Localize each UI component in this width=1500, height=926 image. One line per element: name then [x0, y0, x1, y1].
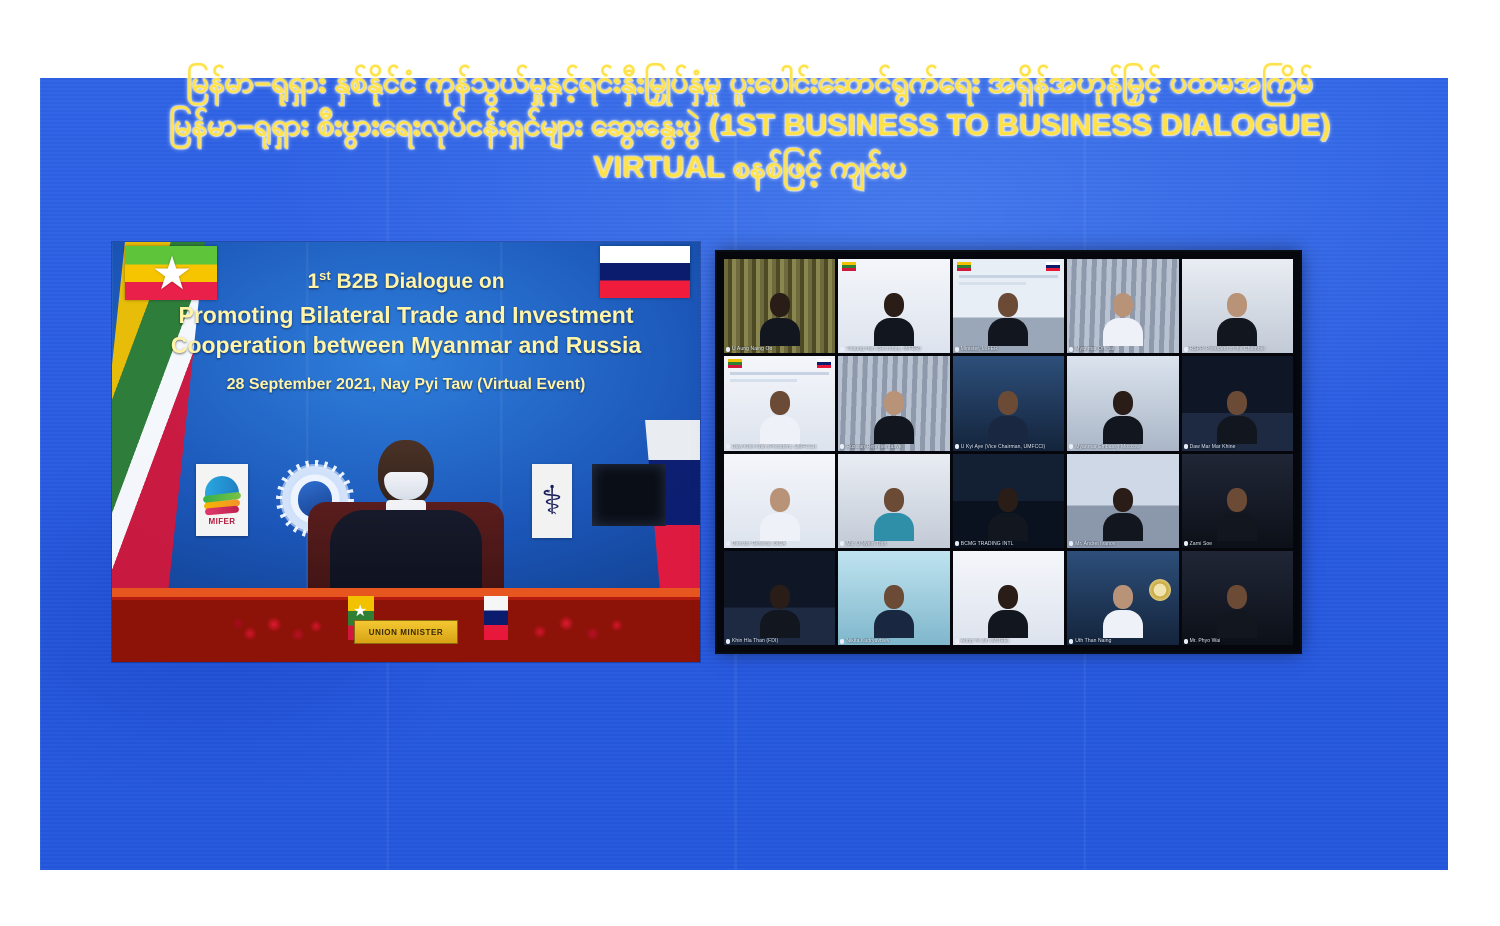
participant-name-text: Russian Representative: [846, 444, 901, 450]
banner-title-rest: B2B Dialogue on: [331, 270, 505, 293]
head: [770, 391, 790, 415]
participant-figure: [760, 488, 800, 541]
participant-name-label: Mr. Phyo Wai: [1184, 638, 1291, 644]
torso: [1103, 610, 1143, 638]
myanmar-flag-icon: [842, 262, 856, 271]
participant-name-text: Minister, MIFER: [961, 346, 998, 352]
participant-figure: [988, 585, 1028, 638]
participant-figure: [760, 293, 800, 346]
mifer-wordmark: MIFER: [209, 517, 236, 526]
head: [1227, 488, 1247, 512]
microphone-icon: [1184, 541, 1188, 546]
wall-dark-panel: [592, 464, 666, 526]
head: [1227, 391, 1247, 415]
participant-figure: [1217, 391, 1257, 444]
participant-figure: [874, 391, 914, 444]
participant-tile[interactable]: Khin Hla Than (FDI): [724, 551, 835, 645]
title-line-3: VIRTUAL စနစ်ဖြင့် ကျင်းပ: [0, 147, 1500, 190]
microphone-icon: [726, 541, 730, 546]
participant-tile[interactable]: Aung Ye Zin (MOEE): [953, 551, 1064, 645]
video-conference-screen: U Aung Naing OoThaung Han (Secretary, MI…: [717, 252, 1300, 652]
microphone-icon: [726, 347, 730, 352]
participant-figure: [988, 488, 1028, 541]
microphone-icon: [1184, 639, 1188, 644]
title-line-2: မြန်မာ–ရုရှား စီးပွားရေးလုပ်ငန်းရှင်များ…: [0, 105, 1500, 148]
head: [770, 293, 790, 317]
participant-name-text: U Aung Naing Oo: [732, 346, 772, 352]
participant-figure: [1103, 293, 1143, 346]
mifer-mark-icon: [203, 474, 241, 514]
microphone-icon: [955, 541, 959, 546]
microphone-icon: [955, 444, 959, 449]
torso: [1103, 416, 1143, 444]
participant-name-label: Khin Hla Than (FDI): [726, 638, 833, 644]
participant-name-text: U Kyi Aye (Vice Chairman, UMFCCI): [961, 444, 1046, 450]
head: [998, 585, 1018, 609]
participant-tile[interactable]: Mr. Andrei Ivanov: [1067, 454, 1178, 548]
banner-line-3: Cooperation between Myanmar and Russia: [112, 331, 700, 361]
participant-name-label: Ms. U Nyein Thiri: [840, 541, 947, 547]
nameplate-label: UNION MINISTER: [369, 628, 444, 637]
participant-name-text: Nikita Kudryavtsev: [846, 638, 889, 644]
nameplate: UNION MINISTER: [354, 620, 458, 644]
microphone-icon: [955, 347, 959, 352]
torso: [874, 513, 914, 541]
microphone-icon: [840, 444, 844, 449]
participant-name-text: Mr. Andrei Ivanov: [1075, 541, 1115, 547]
participant-name-label: Mr. Andrei Ivanov: [1069, 541, 1176, 547]
banner-title-prefix: 1: [307, 270, 319, 293]
participant-name-label: Director General, DICA: [726, 541, 833, 547]
participant-name-text: Myanmar Embassy Moscow: [1075, 444, 1140, 450]
podium-desk: UNION MINISTER: [112, 588, 700, 662]
microphone-icon: [840, 541, 844, 546]
participant-tile[interactable]: Daw Mar Mar Khine: [1182, 356, 1293, 450]
head: [998, 391, 1018, 415]
microphone-icon: [1184, 347, 1188, 352]
participant-name-text: Zarni Soe: [1190, 541, 1213, 547]
participant-name-text: Myanmar Official: [1075, 346, 1114, 352]
banner-line-2: Promoting Bilateral Trade and Investment: [112, 301, 700, 331]
participant-name-text: Aung Ye Zin (MOEE): [961, 638, 1009, 644]
participant-name-label: RSPP, President of the Chamber: [1184, 346, 1291, 352]
torso: [988, 610, 1028, 638]
table-flag-russia: [484, 596, 508, 640]
torso: [988, 416, 1028, 444]
participant-name-text: Daw Khin Khin (President, UMFCCI): [732, 444, 816, 450]
mifer-logo: MIFER: [196, 464, 248, 536]
torso: [1217, 513, 1257, 541]
torso: [1103, 318, 1143, 346]
participant-figure: [874, 585, 914, 638]
torso: [1217, 318, 1257, 346]
head: [884, 585, 904, 609]
participant-name-label: Myanmar Official: [1069, 346, 1176, 352]
participant-tile[interactable]: BCMG TRADING INTL: [953, 454, 1064, 548]
participant-figure: [760, 585, 800, 638]
caduceus-icon: ⚕: [532, 464, 572, 538]
institution-seal-icon: [1149, 579, 1171, 601]
microphone-icon: [726, 639, 730, 644]
participant-name-text: Khin Hla Than (FDI): [732, 638, 778, 644]
participant-figure: [1217, 585, 1257, 638]
participant-tile[interactable]: Nikita Kudryavtsev: [838, 551, 949, 645]
myanmar-flag-icon: [728, 359, 742, 368]
torso: [874, 610, 914, 638]
torso: [760, 513, 800, 541]
head: [1113, 391, 1133, 415]
torso: [1103, 513, 1143, 541]
head: [884, 293, 904, 317]
participant-tile[interactable]: Myanmar Official: [1067, 259, 1178, 353]
participant-name-label: Myanmar Embassy Moscow: [1069, 444, 1176, 450]
participant-name-label: Zarni Soe: [1184, 541, 1291, 547]
microphone-icon: [1069, 444, 1073, 449]
microphone-icon: [726, 444, 730, 449]
participant-name-text: RSPP, President of the Chamber: [1190, 346, 1266, 352]
participant-tile[interactable]: Daw Khin Khin (President, UMFCCI): [724, 356, 835, 450]
participant-figure: [988, 391, 1028, 444]
myanmar-flag-icon: [957, 262, 971, 271]
slide-line: [959, 275, 1058, 278]
participant-name-text: Director General, DICA: [732, 541, 786, 547]
participant-name-text: Mr. Phyo Wai: [1190, 638, 1221, 644]
participant-tile[interactable]: Minister, MIFER: [953, 259, 1064, 353]
participant-tile[interactable]: Ms. U Nyein Thiri: [838, 454, 949, 548]
participant-tile[interactable]: U Aung Naing Oo: [724, 259, 835, 353]
participant-name-label: Nikita Kudryavtsev: [840, 638, 947, 644]
participant-name-label: U Kyi Aye (Vice Chairman, UMFCCI): [955, 444, 1062, 450]
desk-edge: [112, 588, 700, 597]
participant-tile[interactable]: Mr. Phyo Wai: [1182, 551, 1293, 645]
slide-line: [959, 282, 1026, 285]
microphone-icon: [840, 347, 844, 352]
torso: [874, 318, 914, 346]
head: [998, 488, 1018, 512]
participant-name-label: Minister, MIFER: [955, 346, 1062, 352]
head: [1227, 585, 1247, 609]
participant-tile[interactable]: Zarni Soe: [1182, 454, 1293, 548]
microphone-icon: [1069, 639, 1073, 644]
participant-figure: [1103, 488, 1143, 541]
participant-name-label: Uth Than Naing: [1069, 638, 1176, 644]
banner-line-4: 28 September 2021, Nay Pyi Taw (Virtual …: [112, 375, 700, 396]
torso: [760, 416, 800, 444]
microphone-icon: [1069, 541, 1073, 546]
flower-arrangement-right: [520, 606, 630, 652]
torso: [1217, 416, 1257, 444]
head: [770, 488, 790, 512]
microphone-icon: [840, 639, 844, 644]
participant-figure: [988, 293, 1028, 346]
podium-photo: ★ 1st B2B Dialogue on Promoting Bilatera…: [112, 242, 700, 662]
participant-name-text: Ms. U Nyein Thiri: [846, 541, 886, 547]
participant-name-text: BCMG TRADING INTL: [961, 541, 1014, 547]
participant-tile[interactable]: U Kyi Aye (Vice Chairman, UMFCCI): [953, 356, 1064, 450]
participant-name-text: Thaung Han (Secretary, MIFER): [846, 346, 921, 352]
poster-page: မြန်မာ–ရုရှား နှစ်နိုင်ငံ ကုန်သွယ်မှုနှင…: [0, 0, 1500, 926]
torso: [988, 318, 1028, 346]
participant-name-label: BCMG TRADING INTL: [955, 541, 1062, 547]
participant-name-label: Russian Representative: [840, 444, 947, 450]
participant-figure: [760, 391, 800, 444]
russia-flag-icon: [1046, 262, 1060, 271]
head: [1227, 293, 1247, 317]
participant-tile[interactable]: Thaung Han (Secretary, MIFER): [838, 259, 949, 353]
torso: [760, 610, 800, 638]
microphone-icon: [1069, 347, 1073, 352]
head: [1113, 585, 1133, 609]
head: [1113, 488, 1133, 512]
page-title: မြန်မာ–ရုရှား နှစ်နိုင်ငံ ကုန်သွယ်မှုနှင…: [0, 62, 1500, 190]
participant-name-label: Daw Mar Mar Khine: [1184, 444, 1291, 450]
torso: [760, 318, 800, 346]
participant-tile[interactable]: RSPP, President of the Chamber: [1182, 259, 1293, 353]
slide-line: [730, 372, 829, 375]
torso: [988, 513, 1028, 541]
torso: [874, 416, 914, 444]
torso: [1217, 610, 1257, 638]
participant-figure: [1217, 488, 1257, 541]
participant-figure: [1217, 293, 1257, 346]
event-banner-text: 1st B2B Dialogue on Promoting Bilateral …: [112, 268, 700, 396]
participant-figure: [874, 488, 914, 541]
head: [884, 391, 904, 415]
title-line-1: မြန်မာ–ရုရှား နှစ်နိုင်ငံ ကုန်သွယ်မှုနှင…: [0, 62, 1500, 105]
participant-name-label: Aung Ye Zin (MOEE): [955, 638, 1062, 644]
banner-title-sup: st: [319, 268, 331, 283]
participant-figure: [1103, 391, 1143, 444]
microphone-icon: [1184, 444, 1188, 449]
participant-name-label: Daw Khin Khin (President, UMFCCI): [726, 444, 833, 450]
head: [770, 585, 790, 609]
participant-name-text: Daw Mar Mar Khine: [1190, 444, 1236, 450]
banner-title: 1st B2B Dialogue on: [112, 268, 700, 295]
flower-arrangement-left: [230, 606, 330, 652]
participant-name-label: Thaung Han (Secretary, MIFER): [840, 346, 947, 352]
participant-tile[interactable]: Myanmar Embassy Moscow: [1067, 356, 1178, 450]
participant-tile[interactable]: Uth Than Naing: [1067, 551, 1178, 645]
head: [998, 293, 1018, 317]
participant-name-text: Uth Than Naing: [1075, 638, 1111, 644]
caduceus-glyph: ⚕: [541, 481, 563, 521]
participant-grid: U Aung Naing OoThaung Han (Secretary, MI…: [724, 259, 1293, 645]
head: [884, 488, 904, 512]
slide-line: [730, 379, 797, 382]
participant-figure: [874, 293, 914, 346]
participant-figure: [1103, 585, 1143, 638]
participant-tile[interactable]: Russian Representative: [838, 356, 949, 450]
participant-tile[interactable]: Director General, DICA: [724, 454, 835, 548]
microphone-icon: [955, 639, 959, 644]
russia-flag-icon: [817, 359, 831, 368]
participant-name-label: U Aung Naing Oo: [726, 346, 833, 352]
head: [1113, 293, 1133, 317]
